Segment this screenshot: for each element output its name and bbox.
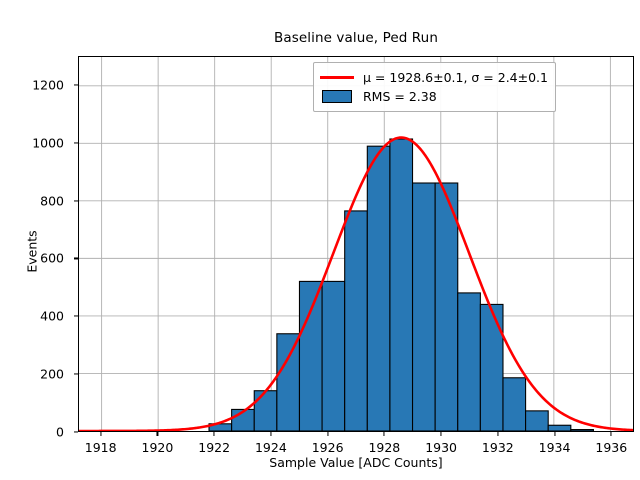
x-tick-label: 1928 [368, 440, 400, 455]
legend-patch-swatch [320, 90, 354, 104]
x-tick-mark [157, 432, 158, 436]
y-tick-label: 400 [40, 309, 64, 324]
x-tick-label: 1932 [482, 440, 514, 455]
x-axis-label: Sample Value [ADC Counts] [78, 455, 634, 470]
x-tick-mark [384, 432, 385, 436]
legend-label-fit: μ = 1928.6±0.1, σ = 2.4±0.1 [363, 70, 548, 85]
plot-area [78, 56, 634, 432]
legend-line-swatch [320, 71, 354, 85]
x-tick-mark [611, 432, 612, 436]
y-tick-label: 600 [40, 251, 64, 266]
x-tick-label: 1918 [85, 440, 117, 455]
y-tick-label: 800 [40, 193, 64, 208]
y-tick-label: 200 [40, 367, 64, 382]
histogram-figure: Baseline value, Ped Run Events 020040060… [0, 0, 640, 480]
x-tick-mark [270, 432, 271, 436]
x-tick-label: 1934 [539, 440, 571, 455]
x-tick-mark [214, 432, 215, 436]
x-tick-label: 1926 [312, 440, 344, 455]
y-tick-label: 1200 [32, 77, 64, 92]
chart-title: Baseline value, Ped Run [78, 30, 634, 46]
chart-legend: μ = 1928.6±0.1, σ = 2.4±0.1 RMS = 2.38 [313, 62, 556, 112]
y-tick-label: 0 [56, 425, 64, 440]
x-tick-mark [100, 432, 101, 436]
x-tick-label: 1930 [425, 440, 457, 455]
y-tick-label: 1000 [32, 135, 64, 150]
x-tick-label: 1920 [142, 440, 174, 455]
gaussian-fit-curve [79, 57, 633, 431]
x-tick-mark [441, 432, 442, 436]
x-tick-label: 1936 [595, 440, 627, 455]
x-tick-label: 1922 [198, 440, 230, 455]
x-tick-mark [497, 432, 498, 436]
x-tick-mark [554, 432, 555, 436]
x-tick-label: 1924 [255, 440, 287, 455]
y-axis-ticks: 020040060080010001200 [0, 56, 72, 432]
legend-label-histogram: RMS = 2.38 [363, 89, 437, 104]
x-tick-mark [327, 432, 328, 436]
legend-entry-fit: μ = 1928.6±0.1, σ = 2.4±0.1 [320, 68, 548, 87]
legend-entry-histogram: RMS = 2.38 [320, 87, 548, 106]
